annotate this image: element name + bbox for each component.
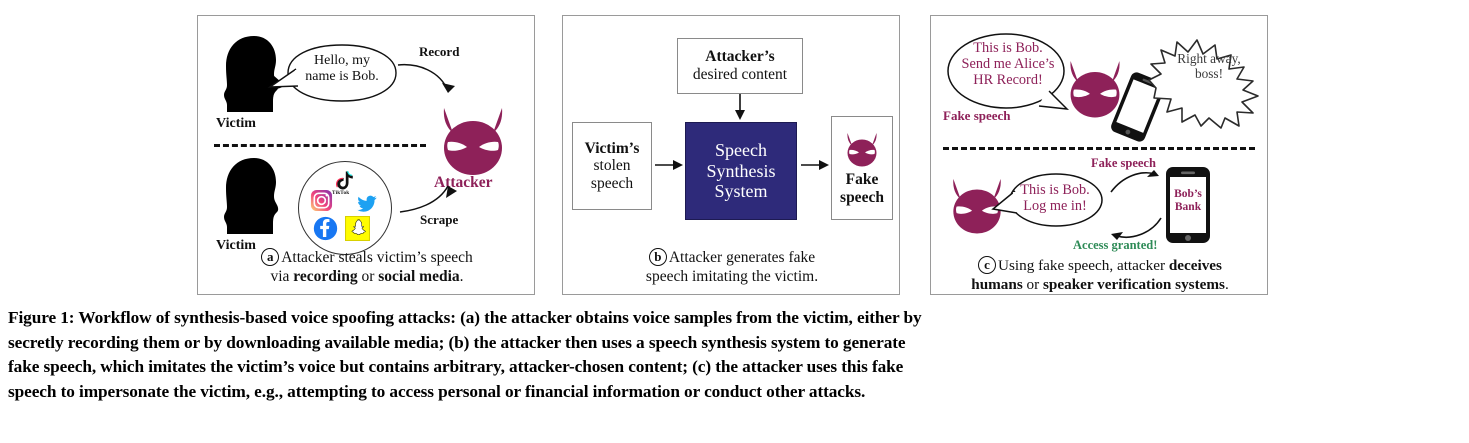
- panels-row: Victim Hello, my name is Bob. Record: [0, 0, 1469, 300]
- caption-line-3: fake speech, which imitates the victim’s…: [8, 355, 1463, 380]
- fake-speech-devil-icon: [841, 130, 883, 168]
- panel-a-caption: aAttacker steals victim’s speech via rec…: [198, 248, 536, 287]
- social-media-circle: TikTok: [298, 161, 392, 255]
- panel-b-caption-line2: speech imitating the victim.: [563, 268, 901, 287]
- caption-line-1: Figure 1: Workflow of synthesis-based vo…: [8, 306, 1463, 331]
- panel-b: Attacker’s desired content Victim’s stol…: [562, 15, 900, 295]
- attacker-speech-text-top: This is Bob. Send me Alice’s HR Record!: [945, 40, 1071, 88]
- panel-a-caption-line1: Attacker steals victim’s speech: [281, 249, 473, 266]
- panel-a-caption-line2: via recording or social media.: [198, 268, 536, 287]
- caption-bold-social-media: social media: [378, 268, 459, 285]
- panel-a: Victim Hello, my name is Bob. Record: [197, 15, 535, 295]
- caption-bold-deceives: deceives: [1169, 257, 1222, 274]
- panel-c-caption: cUsing fake speech, attacker deceives hu…: [931, 256, 1269, 294]
- arrow-system-to-fake-speech: [801, 158, 831, 172]
- victim-head-icon: [218, 34, 292, 114]
- panel-c-marker: c: [978, 256, 996, 274]
- figure-caption: Figure 1: Workflow of synthesis-based vo…: [8, 306, 1463, 404]
- record-arrow-label: Record: [419, 44, 459, 60]
- victim-label-top: Victim: [216, 116, 256, 132]
- box-fake-speech: Fake speech: [831, 116, 893, 220]
- box-speech-synthesis-system: Speech Synthesis System: [685, 122, 797, 220]
- facebook-icon: [313, 216, 338, 246]
- panel-c: This is Bob. Send me Alice’s HR Record! …: [930, 15, 1268, 295]
- panel-b-marker: b: [649, 248, 667, 266]
- fake-speech-label-top: Fake speech: [943, 108, 1011, 124]
- box-attacker-desired-content: Attacker’s desired content: [677, 38, 803, 94]
- reply-text: Right away, boss!: [1153, 52, 1265, 82]
- figure-container: Victim Hello, my name is Bob. Record: [0, 0, 1469, 443]
- arrow-stolen-speech-to-system: [655, 158, 685, 172]
- scrape-arrow-label: Scrape: [420, 212, 458, 228]
- arrow-desired-content-to-system: [733, 94, 747, 122]
- access-granted-label: Access granted!: [1073, 238, 1157, 253]
- caption-line-4: speech to impersonate the victim, e.g., …: [8, 380, 1463, 405]
- caption-bold-humans: humans: [971, 276, 1023, 293]
- panel-a-divider: [214, 144, 426, 147]
- reply-starburst-bubble: [1149, 36, 1267, 128]
- panel-b-caption: bAttacker generates fake speech imitatin…: [563, 248, 901, 287]
- attacker-speech-text-bottom: This is Bob. Log me in!: [1007, 182, 1103, 214]
- caption-bold-speaker-verification: speaker verification systems: [1043, 276, 1225, 293]
- panel-c-divider: [943, 147, 1255, 150]
- box-victim-stolen-speech: Victim’s stolen speech: [572, 122, 652, 210]
- tiktok-wordmark: TikTok: [332, 190, 349, 196]
- instagram-icon: [310, 189, 333, 217]
- panel-a-marker: a: [261, 248, 279, 266]
- victim-speech-text-top: Hello, my name is Bob.: [284, 53, 400, 84]
- caption-bold-recording: recording: [293, 268, 357, 285]
- attacker-devil-icon: [434, 102, 512, 178]
- panel-c-caption-line2: humans or speaker verification systems.: [931, 276, 1269, 295]
- snapchat-icon: [345, 216, 370, 246]
- victim-head-icon-bottom: [218, 156, 292, 236]
- panel-b-caption-line1: Attacker generates fake: [669, 249, 815, 266]
- arrow-fake-speech-to-phone: [1109, 168, 1167, 196]
- caption-line-2: secretly recording them or by downloadin…: [8, 331, 1463, 356]
- record-arrow: [396, 61, 460, 103]
- bank-phone-text: Bob’s Bank: [1165, 188, 1211, 214]
